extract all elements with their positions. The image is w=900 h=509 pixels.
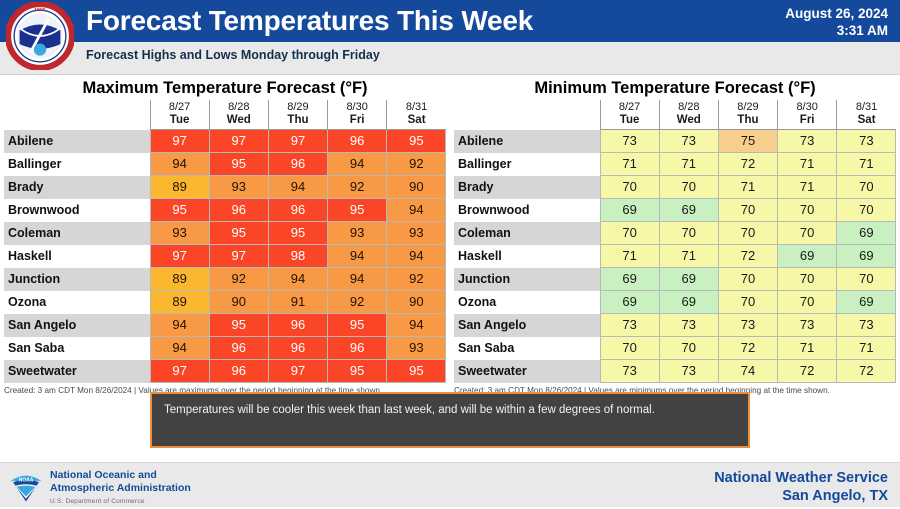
temperature-cell: 96 <box>268 337 327 360</box>
column-header-day: 8/28Wed <box>209 100 268 130</box>
temperature-cell: 89 <box>150 176 209 199</box>
column-header-date: 8/30 <box>346 101 367 113</box>
temperature-cell: 97 <box>150 360 209 383</box>
table-row: Haskell7171726969 <box>454 245 896 268</box>
temperature-cell: 97 <box>150 245 209 268</box>
table-row: Sweetwater7373747272 <box>454 360 896 383</box>
table-row: San Saba9496969693 <box>4 337 446 360</box>
temperature-cell: 73 <box>600 314 659 337</box>
temperature-cell: 70 <box>600 176 659 199</box>
temperature-cell: 70 <box>837 176 896 199</box>
temperature-cell: 70 <box>659 222 718 245</box>
temperature-cell: 95 <box>328 360 387 383</box>
table-row: San Angelo9495969594 <box>4 314 446 337</box>
city-label: Brownwood <box>454 199 600 222</box>
table-minimum-temperature: 8/27Tue8/28Wed8/29Thu8/30Fri8/31Sat Abil… <box>454 100 896 383</box>
table-row: Abilene7373757373 <box>454 130 896 153</box>
temperature-cell: 92 <box>387 268 446 291</box>
column-header-date: 8/27 <box>169 101 190 113</box>
temperature-cell: 69 <box>600 291 659 314</box>
temperature-cell: 72 <box>718 245 777 268</box>
temperature-cell: 93 <box>150 222 209 245</box>
column-header-day: 8/30Fri <box>328 100 387 130</box>
city-label: Haskell <box>454 245 600 268</box>
svg-text:NWS: NWS <box>34 7 45 13</box>
table-row: Junction6969707070 <box>454 268 896 291</box>
temperature-cell: 92 <box>387 153 446 176</box>
temperature-cell: 73 <box>659 360 718 383</box>
city-label: Ballinger <box>454 153 600 176</box>
temperature-cell: 92 <box>209 268 268 291</box>
column-header-day: 8/29Thu <box>268 100 327 130</box>
table-row: Coleman9395959393 <box>4 222 446 245</box>
table-header-row: 8/27Tue8/28Wed8/29Thu8/30Fri8/31Sat <box>4 100 446 130</box>
temperature-cell: 70 <box>778 199 837 222</box>
temperature-cell: 93 <box>328 222 387 245</box>
panel-title-minimum: Minimum Temperature Forecast (°F) <box>450 78 900 100</box>
city-label: Ozona <box>454 291 600 314</box>
temperature-cell: 71 <box>718 176 777 199</box>
table-row: Brownwood9596969594 <box>4 199 446 222</box>
temperature-cell: 75 <box>718 130 777 153</box>
table-row: Brownwood6969707070 <box>454 199 896 222</box>
temperature-cell: 91 <box>268 291 327 314</box>
temperature-cell: 94 <box>150 153 209 176</box>
temperature-cell: 96 <box>268 199 327 222</box>
temperature-cell: 95 <box>209 314 268 337</box>
office-identifier: National Weather Service San Angelo, TX <box>714 469 888 505</box>
temperature-cell: 97 <box>209 130 268 153</box>
column-header-dow: Wed <box>660 114 718 127</box>
temperature-cell: 73 <box>837 130 896 153</box>
city-label: Haskell <box>4 245 150 268</box>
office-location: San Angelo, TX <box>714 487 888 505</box>
temperature-cell: 69 <box>837 245 896 268</box>
forecast-graphic: NWS Forecast Temperatures This Week Fore… <box>0 0 900 506</box>
temperature-cell: 94 <box>268 176 327 199</box>
temperature-cell: 95 <box>209 153 268 176</box>
temperature-cell: 97 <box>268 130 327 153</box>
noaa-agency-text: National Oceanic and Atmospheric Adminis… <box>50 469 191 509</box>
table-row: Haskell9797989494 <box>4 245 446 268</box>
column-header-date: 8/27 <box>619 101 640 113</box>
column-header-date: 8/29 <box>287 101 308 113</box>
temperature-cell: 90 <box>387 291 446 314</box>
column-header-day: 8/27Tue <box>600 100 659 130</box>
temperature-cell: 98 <box>268 245 327 268</box>
column-header-date: 8/29 <box>737 101 758 113</box>
temperature-cell: 70 <box>837 199 896 222</box>
header-time: 3:31 AM <box>785 22 888 39</box>
column-header-dow: Fri <box>778 114 836 127</box>
temperature-cell: 94 <box>268 268 327 291</box>
table-row: San Saba7070727171 <box>454 337 896 360</box>
column-header-date: 8/31 <box>856 101 877 113</box>
temperature-cell: 96 <box>209 199 268 222</box>
temperature-cell: 90 <box>209 291 268 314</box>
city-label: Junction <box>454 268 600 291</box>
header-datetime: August 26, 2024 3:31 AM <box>785 5 888 39</box>
table-row: Abilene9797979695 <box>4 130 446 153</box>
city-label: Brady <box>4 176 150 199</box>
svg-text:NOAA: NOAA <box>19 477 34 483</box>
panel-minimum-temperature: Minimum Temperature Forecast (°F) 8/27Tu… <box>450 78 900 396</box>
noaa-line-2: Atmospheric Administration <box>50 482 191 495</box>
temperature-cell: 95 <box>268 222 327 245</box>
temperature-cell: 69 <box>837 291 896 314</box>
temperature-cell: 73 <box>718 314 777 337</box>
temperature-cell: 74 <box>718 360 777 383</box>
city-label: Sweetwater <box>4 360 150 383</box>
temperature-cell: 96 <box>268 153 327 176</box>
column-header-dow: Thu <box>269 114 327 127</box>
table-row: Brady8993949290 <box>4 176 446 199</box>
temperature-cell: 73 <box>600 360 659 383</box>
city-label: Ozona <box>4 291 150 314</box>
nws-seal-icon: NWS <box>6 2 74 70</box>
temperature-cell: 94 <box>387 199 446 222</box>
city-label: Coleman <box>4 222 150 245</box>
city-label: San Saba <box>4 337 150 360</box>
temperature-cell: 71 <box>600 153 659 176</box>
panel-maximum-temperature: Maximum Temperature Forecast (°F) 8/27Tu… <box>0 78 450 396</box>
temperature-cell: 69 <box>659 268 718 291</box>
temperature-cell: 95 <box>150 199 209 222</box>
temperature-cell: 96 <box>209 337 268 360</box>
city-label: Ballinger <box>4 153 150 176</box>
temperature-cell: 70 <box>718 268 777 291</box>
city-label: Brady <box>454 176 600 199</box>
city-label: Sweetwater <box>454 360 600 383</box>
temperature-cell: 89 <box>150 268 209 291</box>
temperature-cell: 73 <box>600 130 659 153</box>
city-label: Abilene <box>4 130 150 153</box>
temperature-cell: 95 <box>328 314 387 337</box>
temperature-cell: 96 <box>328 130 387 153</box>
table-body: Abilene9797979695Ballinger9495969492Brad… <box>4 130 446 383</box>
column-header-dow: Sat <box>837 114 896 127</box>
temperature-cell: 70 <box>778 291 837 314</box>
column-header-city <box>4 100 150 130</box>
temperature-cell: 71 <box>778 153 837 176</box>
header-date: August 26, 2024 <box>785 5 888 22</box>
column-header-day: 8/31Sat <box>387 100 446 130</box>
temperature-cell: 73 <box>659 314 718 337</box>
temperature-cell: 72 <box>778 360 837 383</box>
temperature-cell: 72 <box>718 337 777 360</box>
temperature-cell: 93 <box>387 222 446 245</box>
temperature-cell: 70 <box>659 176 718 199</box>
footer: NOAA National Oceanic and Atmospheric Ad… <box>0 462 900 507</box>
temperature-cell: 70 <box>718 222 777 245</box>
temperature-cell: 69 <box>600 268 659 291</box>
temperature-cell: 95 <box>209 222 268 245</box>
temperature-cell: 90 <box>387 176 446 199</box>
temperature-cell: 94 <box>150 314 209 337</box>
temperature-cell: 70 <box>659 337 718 360</box>
temperature-cell: 70 <box>778 222 837 245</box>
table-row: San Angelo7373737373 <box>454 314 896 337</box>
temperature-cell: 71 <box>778 176 837 199</box>
table-head: 8/27Tue8/28Wed8/29Thu8/30Fri8/31Sat <box>454 100 896 130</box>
column-header-date: 8/28 <box>678 101 699 113</box>
temperature-cell: 73 <box>778 314 837 337</box>
noaa-line-1: National Oceanic and <box>50 469 191 482</box>
office-name: National Weather Service <box>714 469 888 487</box>
message-text: Temperatures will be cooler this week th… <box>152 394 748 418</box>
temperature-cell: 69 <box>837 222 896 245</box>
temperature-cell: 71 <box>778 337 837 360</box>
temperature-cell: 94 <box>150 337 209 360</box>
temperature-cell: 71 <box>837 337 896 360</box>
city-label: Junction <box>4 268 150 291</box>
temperature-cell: 96 <box>328 337 387 360</box>
column-header-dow: Wed <box>210 114 268 127</box>
table-row: Brady7070717170 <box>454 176 896 199</box>
city-label: San Saba <box>454 337 600 360</box>
column-header-date: 8/28 <box>228 101 249 113</box>
temperature-cell: 94 <box>387 245 446 268</box>
temperature-cell: 70 <box>600 337 659 360</box>
temperature-cell: 73 <box>778 130 837 153</box>
column-header-day: 8/29Thu <box>718 100 777 130</box>
city-label: San Angelo <box>454 314 600 337</box>
temperature-cell: 94 <box>328 268 387 291</box>
temperature-cell: 95 <box>328 199 387 222</box>
temperature-cell: 70 <box>600 222 659 245</box>
temperature-cell: 97 <box>150 130 209 153</box>
temperature-cell: 95 <box>387 130 446 153</box>
message-box: Temperatures will be cooler this week th… <box>150 392 750 448</box>
column-header-dow: Tue <box>601 114 659 127</box>
table-maximum-temperature: 8/27Tue8/28Wed8/29Thu8/30Fri8/31Sat Abil… <box>4 100 446 383</box>
table-header-row: 8/27Tue8/28Wed8/29Thu8/30Fri8/31Sat <box>454 100 896 130</box>
panel-title-maximum: Maximum Temperature Forecast (°F) <box>0 78 450 100</box>
temperature-cell: 93 <box>387 337 446 360</box>
temperature-cell: 71 <box>837 153 896 176</box>
temperature-cell: 69 <box>778 245 837 268</box>
table-row: Sweetwater9796979595 <box>4 360 446 383</box>
page-subtitle: Forecast Highs and Lows Monday through F… <box>86 48 380 62</box>
city-label: Brownwood <box>4 199 150 222</box>
header: NWS Forecast Temperatures This Week Fore… <box>0 0 900 74</box>
temperature-cell: 95 <box>387 360 446 383</box>
temperature-cell: 69 <box>659 291 718 314</box>
temperature-cell: 96 <box>209 360 268 383</box>
column-header-day: 8/30Fri <box>778 100 837 130</box>
column-header-day: 8/27Tue <box>150 100 209 130</box>
noaa-line-3: U.S. Department of Commerce <box>50 496 191 509</box>
city-label: San Angelo <box>4 314 150 337</box>
temperature-cell: 70 <box>837 268 896 291</box>
column-header-dow: Sat <box>387 114 446 127</box>
column-header-day: 8/31Sat <box>837 100 896 130</box>
noaa-seal-icon: NOAA <box>8 467 44 503</box>
column-header-dow: Fri <box>328 114 386 127</box>
temperature-cell: 94 <box>328 245 387 268</box>
table-body: Abilene7373757373Ballinger7171727171Brad… <box>454 130 896 383</box>
table-row: Junction8992949492 <box>4 268 446 291</box>
temperature-cell: 92 <box>328 176 387 199</box>
column-header-dow: Thu <box>719 114 777 127</box>
temperature-cell: 73 <box>837 314 896 337</box>
column-header-date: 8/30 <box>796 101 817 113</box>
table-row: Ballinger9495969492 <box>4 153 446 176</box>
column-header-city <box>454 100 600 130</box>
temperature-cell: 92 <box>328 291 387 314</box>
temperature-cell: 71 <box>659 245 718 268</box>
temperature-cell: 71 <box>600 245 659 268</box>
temperature-cell: 89 <box>150 291 209 314</box>
temperature-cell: 73 <box>659 130 718 153</box>
temperature-cell: 94 <box>387 314 446 337</box>
table-head: 8/27Tue8/28Wed8/29Thu8/30Fri8/31Sat <box>4 100 446 130</box>
temperature-cell: 70 <box>778 268 837 291</box>
temperature-cell: 94 <box>328 153 387 176</box>
table-row: Ozona8990919290 <box>4 291 446 314</box>
column-header-day: 8/28Wed <box>659 100 718 130</box>
temperature-cell: 70 <box>718 199 777 222</box>
temperature-cell: 97 <box>268 360 327 383</box>
column-header-dow: Tue <box>151 114 209 127</box>
temperature-cell: 69 <box>659 199 718 222</box>
city-label: Coleman <box>454 222 600 245</box>
temperature-cell: 70 <box>718 291 777 314</box>
page-title: Forecast Temperatures This Week <box>86 4 533 38</box>
temperature-cell: 97 <box>209 245 268 268</box>
temperature-cell: 72 <box>837 360 896 383</box>
temperature-cell: 69 <box>600 199 659 222</box>
table-row: Ballinger7171727171 <box>454 153 896 176</box>
table-row: Coleman7070707069 <box>454 222 896 245</box>
temperature-cell: 72 <box>718 153 777 176</box>
temperature-cell: 71 <box>659 153 718 176</box>
table-row: Ozona6969707069 <box>454 291 896 314</box>
column-header-date: 8/31 <box>406 101 427 113</box>
temperature-cell: 93 <box>209 176 268 199</box>
temperature-cell: 96 <box>268 314 327 337</box>
city-label: Abilene <box>454 130 600 153</box>
